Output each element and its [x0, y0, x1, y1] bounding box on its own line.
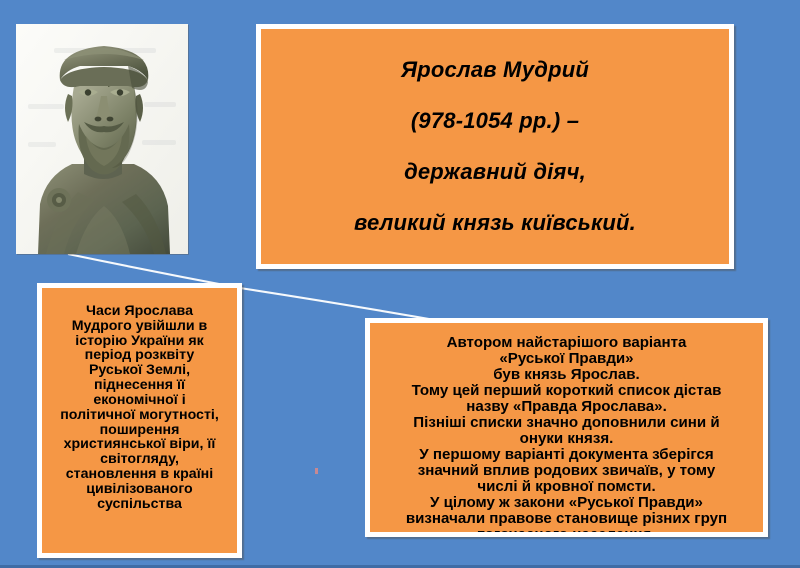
left-line-8: політичної могутності,	[49, 408, 230, 423]
title-card: Ярослав Мудрий (978-1054 рр.) – державни…	[256, 24, 734, 269]
right-line-6: Пізніші списки значно доповнили сини й	[375, 415, 758, 431]
right-line-10: числі й кровної помсти.	[375, 479, 758, 495]
title-line-3: державний діяч,	[275, 161, 715, 183]
title-line-1: Ярослав Мудрий	[275, 59, 715, 81]
slide-canvas: Ярослав Мудрий (978-1054 рр.) – державни…	[0, 0, 800, 568]
title-line-2: (978-1054 рр.) –	[275, 110, 715, 132]
portrait-image-frame	[16, 24, 188, 254]
left-info-card: Часи Ярослава Мудрого увійшли в історію …	[37, 283, 242, 558]
right-line-7: онуки князя.	[375, 431, 758, 447]
right-line-11: У цілому ж закони «Руської Правди»	[375, 495, 758, 511]
title-card-inner: Ярослав Мудрий (978-1054 рр.) – державни…	[261, 29, 729, 264]
left-info-card-text: Часи Ярослава Мудрого увійшли в історію …	[49, 304, 230, 512]
right-line-1: Автором найстарішого варіанта	[375, 335, 758, 351]
left-line-14: суспільства	[49, 497, 230, 512]
right-line-12: визначали правове становище різних груп	[375, 511, 758, 527]
title-line-4: великий князь київський.	[275, 212, 715, 234]
portrait-photo	[16, 24, 188, 254]
right-info-card: Автором найстарішого варіанта «Руської П…	[365, 318, 768, 537]
left-line-11: світогляду,	[49, 452, 230, 467]
right-line-9: значний вплив родових звичаїв, у тому	[375, 463, 758, 479]
title-card-text: Ярослав Мудрий (978-1054 рр.) – державни…	[275, 59, 715, 234]
left-line-1: Часи Ярослава	[49, 304, 230, 319]
right-info-card-inner: Автором найстарішого варіанта «Руської П…	[370, 323, 763, 532]
stray-artifact-mark	[315, 468, 318, 474]
left-line-6: піднесення її	[49, 378, 230, 393]
left-line-10: християнської віри, її	[49, 437, 230, 452]
left-info-card-inner: Часи Ярослава Мудрого увійшли в історію …	[42, 288, 237, 553]
bust-statue-icon	[16, 24, 188, 254]
right-line-2: «Руської Правди»	[375, 351, 758, 367]
right-line-4: Тому цей перший короткий список дістав	[375, 383, 758, 399]
left-line-7: економічної і	[49, 393, 230, 408]
left-line-4: період розквіту	[49, 348, 230, 363]
left-line-5: Руської Землі,	[49, 363, 230, 378]
right-line-13: тогочасного населення.	[375, 527, 758, 532]
left-line-9: поширення	[49, 423, 230, 438]
right-info-card-text: Автором найстарішого варіанта «Руської П…	[375, 335, 758, 532]
right-line-3: був князь Ярослав.	[375, 367, 758, 383]
left-line-3: історію України як	[49, 334, 230, 349]
right-line-5: назву «Правда Ярослава».	[375, 399, 758, 415]
left-line-13: цивілізованого	[49, 482, 230, 497]
left-line-2: Мудрого увійшли в	[49, 319, 230, 334]
left-line-12: становлення в країні	[49, 467, 230, 482]
right-line-8: У першому варіанті документа зберігся	[375, 447, 758, 463]
